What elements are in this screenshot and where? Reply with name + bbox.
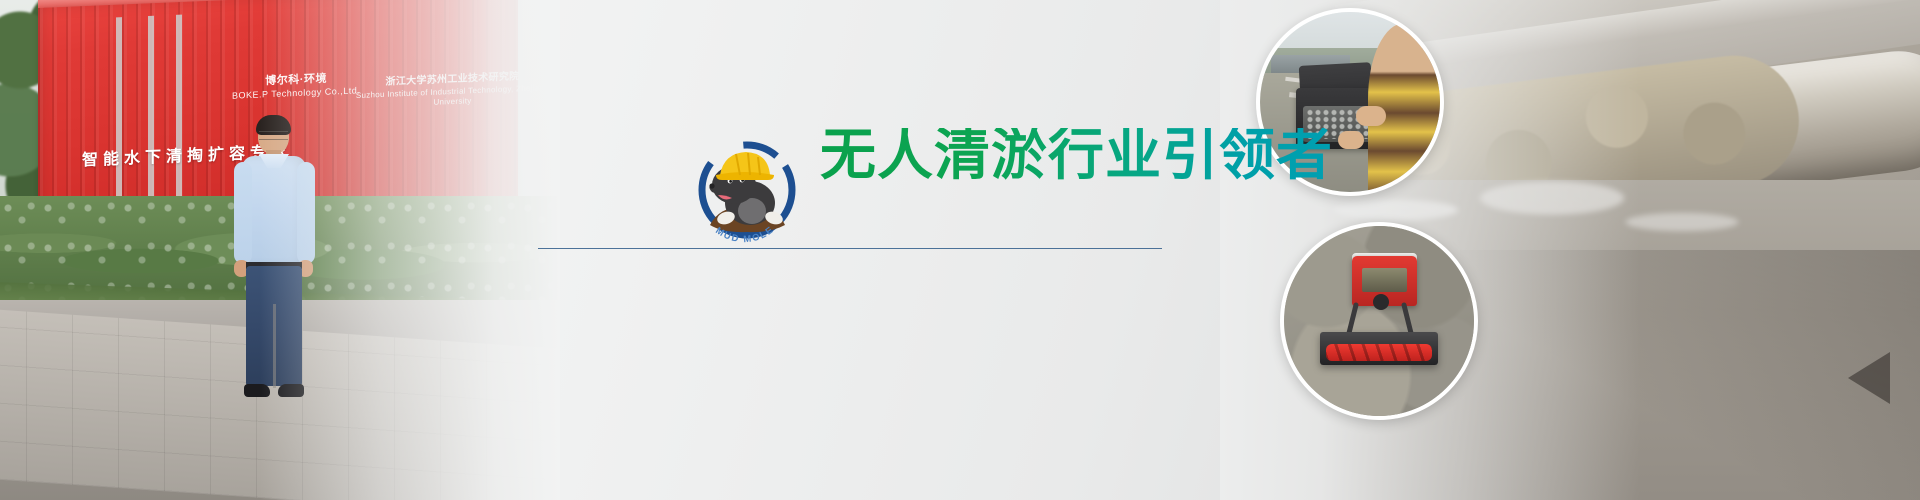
operator-left-hand bbox=[1338, 131, 1364, 149]
mud-mole-logo-svg: MUD MOLE bbox=[690, 133, 804, 247]
container-door-bars bbox=[108, 14, 190, 217]
operator-right-hand bbox=[1356, 106, 1386, 126]
divider-line bbox=[538, 248, 1162, 249]
robot-chassis bbox=[1362, 268, 1408, 293]
robot-auger bbox=[1326, 344, 1432, 361]
center-content: MUD MOLE 无人清淤行业引领者 bbox=[520, 0, 1080, 500]
arrow-shape bbox=[1848, 352, 1890, 404]
page-title: 无人清淤行业引领者 bbox=[820, 128, 1333, 184]
mud-mole-logo: MUD MOLE bbox=[690, 133, 804, 247]
person-left-arm bbox=[234, 162, 252, 264]
hero-banner: 博尔科·环境 BOKE.P Technology Co.,Ltd. 浙江大学苏州… bbox=[0, 0, 1920, 500]
dredging-robot-photo bbox=[1280, 222, 1478, 420]
left-photo: 博尔科·环境 BOKE.P Technology Co.,Ltd. 浙江大学苏州… bbox=[0, 0, 560, 500]
left-photo-fade bbox=[260, 0, 560, 500]
